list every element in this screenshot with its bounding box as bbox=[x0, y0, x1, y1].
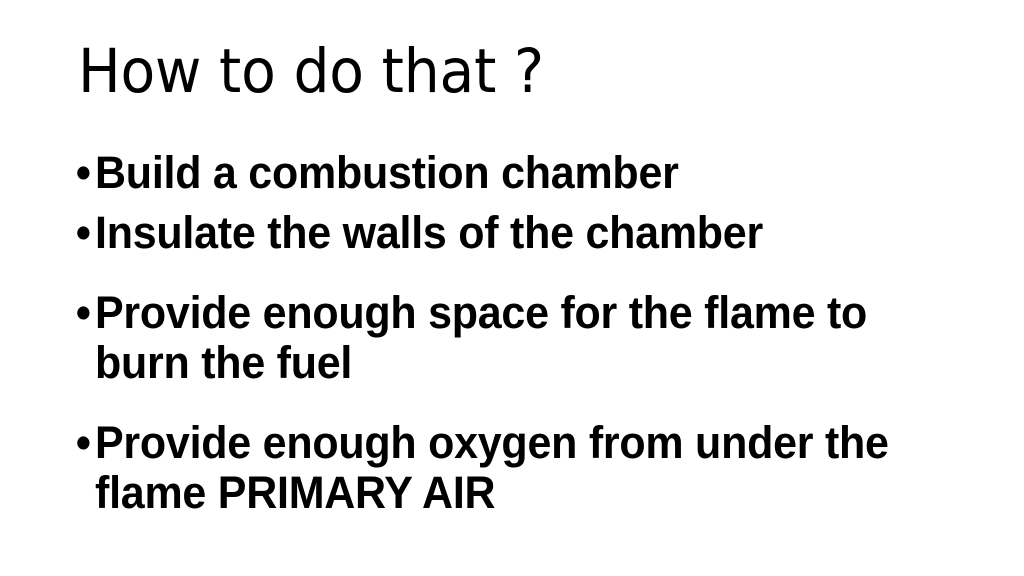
page-title: How to do that ? bbox=[78, 40, 896, 105]
bullet-dot-icon: • bbox=[76, 148, 91, 198]
list-item-label: Provide enough oxygen from under the fla… bbox=[95, 418, 933, 518]
list-item-label: Provide enough space for the flame to bu… bbox=[95, 288, 933, 388]
presentation-slide: How to do that ? • Build a combustion ch… bbox=[0, 0, 1024, 576]
list-item[interactable]: • Provide enough space for the flame to … bbox=[74, 288, 934, 388]
list-spacer bbox=[74, 388, 974, 418]
bullet-dot-icon: • bbox=[76, 418, 91, 468]
list-spacer bbox=[74, 258, 974, 288]
list-item[interactable]: • Insulate the walls of the chamber bbox=[74, 208, 934, 258]
list-item[interactable]: • Provide enough oxygen from under the f… bbox=[74, 418, 934, 518]
list-item-label: Build a combustion chamber bbox=[95, 148, 933, 198]
bullet-dot-icon: • bbox=[76, 288, 91, 338]
list-item[interactable]: • Build a combustion chamber bbox=[74, 148, 934, 198]
bullet-list: • Build a combustion chamber • Insulate … bbox=[74, 148, 974, 518]
bullet-dot-icon: • bbox=[76, 208, 91, 258]
list-item-label: Insulate the walls of the chamber bbox=[95, 208, 933, 258]
